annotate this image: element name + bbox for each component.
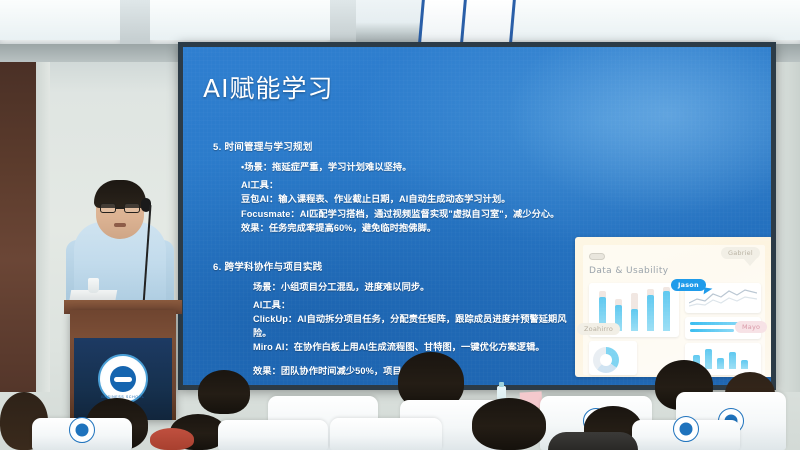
section-line: Focusmate：AI匹配学习搭档，通过视频监督实现"虚拟自习室"，减少分心。 xyxy=(241,208,571,222)
section-line: •场景：拖延症严重，学习计划难以坚持。 xyxy=(241,161,761,175)
projection-screen: AI赋能学习 5. 时间管理与学习规划 •场景：拖延症严重，学习计划难以坚持。 … xyxy=(183,47,771,385)
wall-panel-edge xyxy=(36,62,50,392)
audience-head xyxy=(472,398,546,450)
section-body: •场景：拖延症严重，学习计划难以坚持。 AI工具： 豆包AI：输入课程表、作业截… xyxy=(241,161,761,236)
audience-head xyxy=(198,370,250,414)
seat-back xyxy=(330,418,442,450)
lecture-hall-photo: AI赋能学习 5. 时间管理与学习规划 •场景：拖延症严重，学习计划难以坚持。 … xyxy=(0,0,800,450)
dashboard-title: Data & Usability xyxy=(589,266,669,276)
collaborator-tag-jason: Jason xyxy=(671,279,706,291)
collaborator-tag-mayo: Mayo xyxy=(735,321,767,333)
section-line: 豆包AI：输入课程表、作业截止日期，AI自动生成动态学习计划。 xyxy=(241,193,571,207)
wood-wall-panel xyxy=(0,62,36,392)
dashboard-mockup-image: Data & Usability xyxy=(575,237,771,377)
seat-back xyxy=(632,420,740,450)
seat-emblem-icon xyxy=(673,416,699,442)
ceiling-light-panel xyxy=(150,0,330,40)
ceiling-beam xyxy=(120,0,150,44)
wall-right-section xyxy=(775,62,800,392)
eyeglasses-icon xyxy=(100,203,140,213)
section-line: ClickUp：AI自动拆分项目任务，分配责任矩阵，跟踪成员进度并预警延期风险。 xyxy=(253,313,583,340)
slide-title: AI赋能学习 xyxy=(203,69,333,105)
collaborator-tag-gabriel: Gabriel xyxy=(721,247,760,259)
audience-shoulders xyxy=(548,432,638,450)
ceiling-light-panel xyxy=(470,0,800,40)
section-line: AI工具： xyxy=(241,179,761,193)
cup-on-podium xyxy=(88,278,99,293)
ceiling-light-fixture xyxy=(460,0,516,42)
slide-section-5: 5. 时间管理与学习规划 •场景：拖延症严重，学习计划难以坚持。 AI工具： 豆… xyxy=(213,139,761,237)
donut-chart-icon xyxy=(593,347,619,373)
audience-red-cap xyxy=(150,428,194,450)
seat-emblem-icon xyxy=(69,417,95,443)
collaborator-tag-zoahirro: Zoahirro xyxy=(577,323,620,335)
ceiling-light-panel xyxy=(0,0,120,40)
ceiling-beam xyxy=(330,0,356,44)
projection-screen-bezel: AI赋能学习 5. 时间管理与学习规划 •场景：拖延症严重，学习计划难以坚持。 … xyxy=(178,42,776,390)
speaker-mouth xyxy=(114,223,126,227)
seat-back xyxy=(218,420,328,450)
ceiling xyxy=(0,0,800,46)
section-line: Miro AI：在协作白板上用AI生成流程图、甘特图，一键优化方案逻辑。 xyxy=(253,341,583,355)
dashboard-logo-pill xyxy=(589,253,605,260)
section-heading: 5. 时间管理与学习规划 xyxy=(213,139,761,153)
seat-back xyxy=(32,418,132,450)
presentation-slide: AI赋能学习 5. 时间管理与学习规划 •场景：拖延症严重，学习计划难以坚持。 … xyxy=(183,47,771,385)
section-line: 效果：任务完成率提高60%，避免临时抱佛脚。 xyxy=(241,222,761,236)
business-school-emblem-icon: BUSINESS SCHOOL xyxy=(98,354,148,404)
